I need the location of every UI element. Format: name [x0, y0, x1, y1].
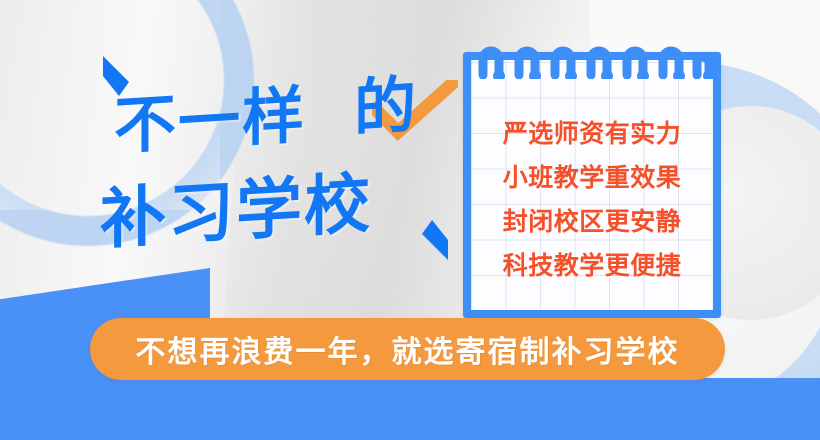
- promo-banner: 不一样 的 补习学校: [0, 0, 820, 440]
- list-item: 封闭校区更安静: [471, 210, 713, 235]
- list-item: 严选师资有实力: [471, 122, 713, 147]
- cta-pill-label: 不想再浪费一年，就选寄宿制补习学校: [136, 327, 680, 371]
- list-item: 小班教学重效果: [471, 166, 713, 191]
- headline-line-1-suffix: 的: [354, 54, 416, 148]
- notepad-card: 严选师资有实力 小班教学重效果 封闭校区更安静 科技教学更便捷: [463, 52, 721, 318]
- notepad-feature-list: 严选师资有实力 小班教学重效果 封闭校区更安静 科技教学更便捷: [471, 60, 713, 310]
- list-item: 科技教学更便捷: [471, 254, 713, 279]
- headline-line-1: 不一样: [114, 64, 306, 166]
- headline-line-2: 补习学校: [100, 150, 372, 263]
- quote-close-icon: [418, 212, 452, 260]
- headline-group: 不一样 的 补习学校: [100, 62, 470, 277]
- cta-pill-button[interactable]: 不想再浪费一年，就选寄宿制补习学校: [90, 318, 725, 380]
